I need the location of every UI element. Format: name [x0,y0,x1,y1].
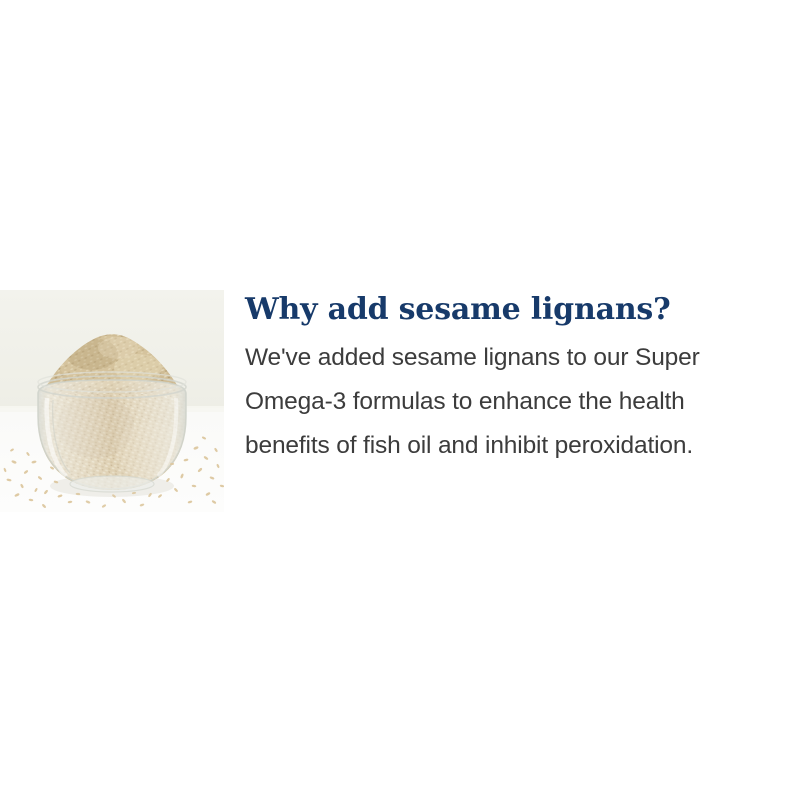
sesame-seeds-bowl-photo [0,290,224,512]
body-paragraph: We've added sesame lignans to our Super … [245,336,790,468]
body-line-3: benefits of fish oil and inhibit peroxid… [245,424,790,468]
body-line-2: Omega-3 formulas to enhance the health [245,380,790,424]
sesame-seeds-bowl-illustration [0,290,224,512]
feature-content-block: Why add sesame lignans? We've added sesa… [0,290,800,515]
feature-text-column: Why add sesame lignans? We've added sesa… [224,290,800,468]
body-line-1: We've added sesame lignans to our Super [245,336,790,380]
page-title: Why add sesame lignans? [245,293,800,327]
